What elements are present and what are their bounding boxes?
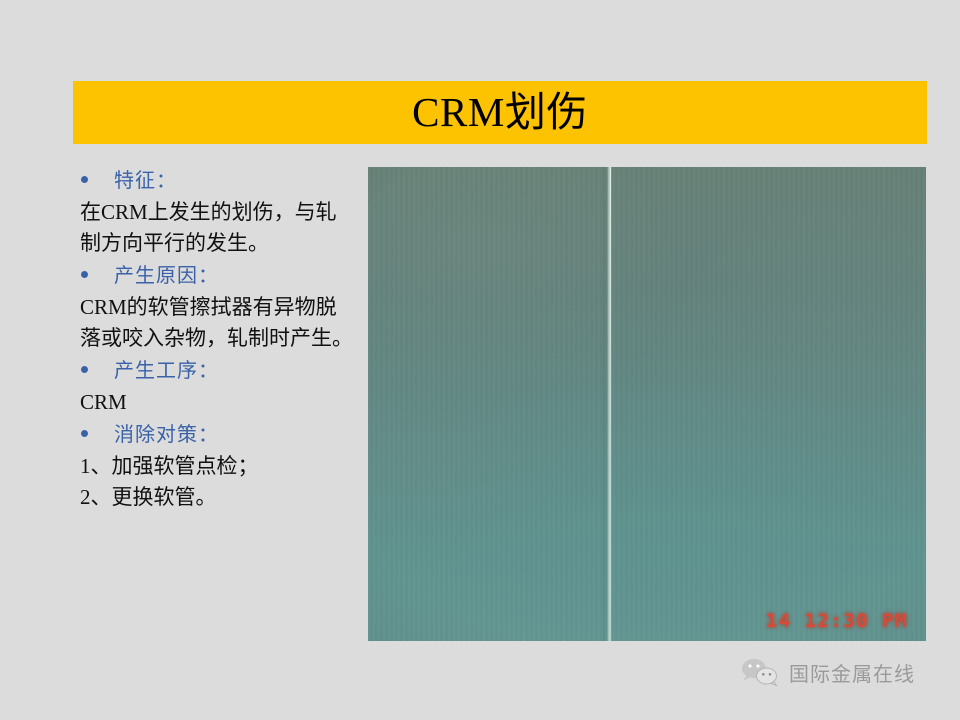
bullet-dot-icon (81, 430, 88, 437)
defect-photo: 14 12:30 PM (368, 167, 926, 641)
bullet-heading-label: 产生原因： (114, 259, 219, 288)
body-line: 2、更换软管。 (73, 482, 358, 513)
body-line: 落或咬入杂物，轧制时产生。 (73, 323, 358, 354)
body-line: 制方向平行的发生。 (73, 228, 358, 259)
bullet-heading-label: 产生工序： (114, 354, 219, 383)
bullet-heading-process: 产生工序： (73, 354, 358, 387)
slide-title-bar: CRM划伤 (73, 81, 927, 144)
body-line: CRM的软管擦拭器有异物脱 (73, 292, 358, 323)
page-title: CRM划伤 (412, 92, 588, 133)
bullet-heading-feature: 特征： (73, 164, 358, 197)
bullet-heading-label: 特征： (114, 164, 177, 193)
watermark-label: 国际金属在线 (789, 658, 915, 687)
body-line: 在CRM上发生的划伤，与轧 (73, 197, 358, 228)
bullet-dot-icon (81, 271, 88, 278)
wechat-icon (740, 657, 780, 687)
watermark: 国际金属在线 (740, 657, 915, 687)
body-line: 1、加强软管点检； (73, 451, 358, 482)
bullet-heading-countermeasure: 消除对策： (73, 418, 358, 451)
body-line: CRM (73, 387, 358, 418)
content-column: 特征： 在CRM上发生的划伤，与轧 制方向平行的发生。 产生原因： CRM的软管… (73, 164, 358, 513)
bullet-dot-icon (81, 176, 88, 183)
photo-vignette (368, 167, 926, 641)
bullet-heading-label: 消除对策： (114, 418, 219, 447)
bullet-dot-icon (81, 366, 88, 373)
photo-timestamp: 14 12:30 PM (766, 610, 908, 632)
bullet-heading-cause: 产生原因： (73, 259, 358, 292)
